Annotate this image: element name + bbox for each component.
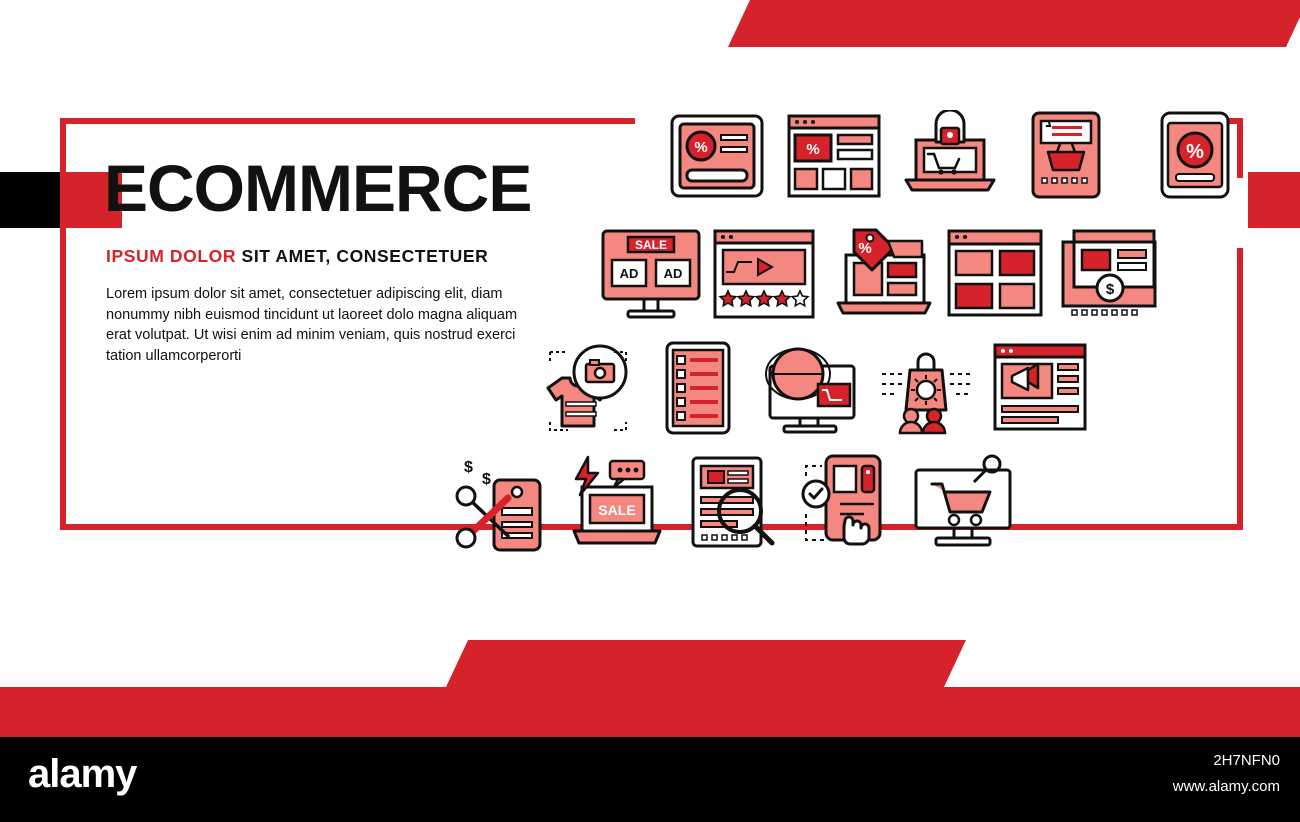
shopping-bag-users-icon bbox=[878, 340, 974, 436]
product-grid-catalog-icon bbox=[946, 228, 1044, 318]
laptop-discount-tag-icon: % bbox=[832, 225, 936, 320]
video-review-stars-icon bbox=[712, 228, 816, 320]
scissors-coupon-tag-icon: $ $ bbox=[452, 452, 558, 556]
monitor-sale-ads-icon: SALE AD AD bbox=[600, 228, 702, 320]
mobile-discount-banner-icon: % bbox=[669, 113, 765, 199]
dollar-sign-1: $ bbox=[464, 459, 473, 476]
svg-text:%: % bbox=[694, 139, 707, 156]
dollar-sign-2: $ bbox=[482, 471, 491, 488]
bottom-red-band bbox=[0, 687, 1300, 737]
icon-grid: % % bbox=[0, 0, 1300, 640]
svg-text:%: % bbox=[806, 141, 819, 158]
ad-right-label: AD bbox=[664, 266, 683, 281]
payment-money-browser-icon: $ bbox=[1060, 228, 1158, 320]
secure-laptop-cart-icon bbox=[900, 110, 1000, 200]
mobile-percent-discount-icon: % bbox=[1158, 110, 1232, 200]
website-discount-layout-icon: % bbox=[786, 113, 882, 199]
sale-label: SALE bbox=[635, 238, 667, 252]
mobile-checklist-icon bbox=[664, 340, 732, 436]
tshirt-product-photo-icon bbox=[538, 340, 638, 436]
mobile-tap-purchase-icon bbox=[800, 452, 896, 552]
alamy-image-id: 2H7NFN0 bbox=[1213, 752, 1280, 769]
tablet-basket-list-icon bbox=[1030, 110, 1102, 200]
search-product-magnifier-icon bbox=[690, 455, 778, 553]
megaphone-promotion-browser-icon bbox=[992, 342, 1088, 434]
dollar-label: $ bbox=[1106, 281, 1115, 298]
bottom-red-parallelogram bbox=[446, 640, 966, 687]
watermark-strip bbox=[0, 737, 1300, 822]
alamy-url: www.alamy.com bbox=[1173, 778, 1280, 795]
global-ecommerce-monitor-icon bbox=[762, 340, 862, 436]
monitor-shopping-cart-icon bbox=[912, 452, 1014, 552]
sale-laptop-label: SALE bbox=[598, 502, 635, 518]
svg-text:%: % bbox=[858, 240, 871, 257]
poster-canvas: ECOMMERCE IPSUM DOLOR SIT AMET, CONSECTE… bbox=[0, 0, 1300, 822]
svg-text:%: % bbox=[1186, 141, 1204, 163]
flash-sale-laptop-icon: SALE bbox=[570, 455, 664, 553]
alamy-logo: alamy bbox=[28, 752, 136, 797]
ad-left-label: AD bbox=[620, 266, 639, 281]
